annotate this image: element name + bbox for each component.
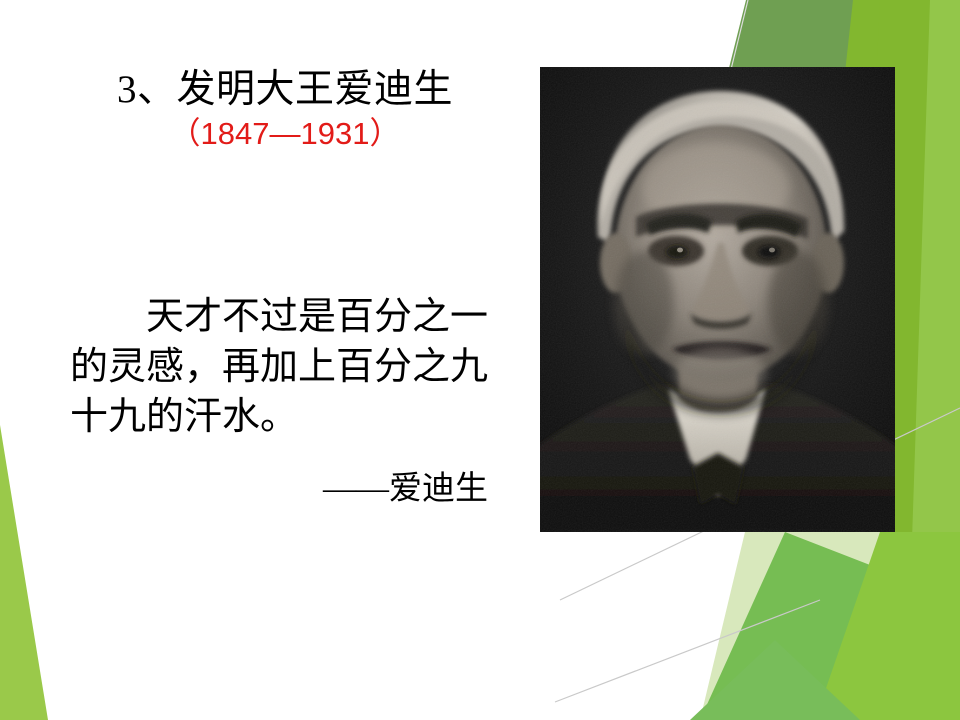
portrait-grain	[540, 67, 895, 532]
quote-text: 天才不过是百分之一的灵感，再加上百分之九十九的汗水。	[70, 292, 510, 442]
decor-hairline-lower	[555, 600, 820, 702]
page-title: 3、发明大王爱迪生	[60, 66, 510, 114]
quote-block: 天才不过是百分之一的灵感，再加上百分之九十九的汗水。 ——爱迪生	[70, 292, 510, 510]
slide-canvas: 3、发明大王爱迪生 （1847—1931） 天才不过是百分之一的灵感，再加上百分…	[0, 0, 960, 720]
decor-shape-leaf-large	[700, 532, 960, 720]
quote-attribution: ——爱迪生	[70, 468, 510, 510]
title-block: 3、发明大王爱迪生 （1847—1931）	[60, 66, 510, 154]
decor-shape-left-wedge	[0, 425, 48, 720]
lifespan-dates: （1847—1931）	[60, 114, 510, 154]
decor-shape-pale-fan	[700, 532, 960, 720]
portrait-photo	[540, 67, 895, 532]
decor-shape-leaf-small	[690, 640, 860, 720]
decor-shape-leaf-mid	[815, 532, 960, 720]
portrait-photo-graphic	[540, 67, 895, 532]
decor-shape-rightedge-light	[900, 0, 960, 720]
